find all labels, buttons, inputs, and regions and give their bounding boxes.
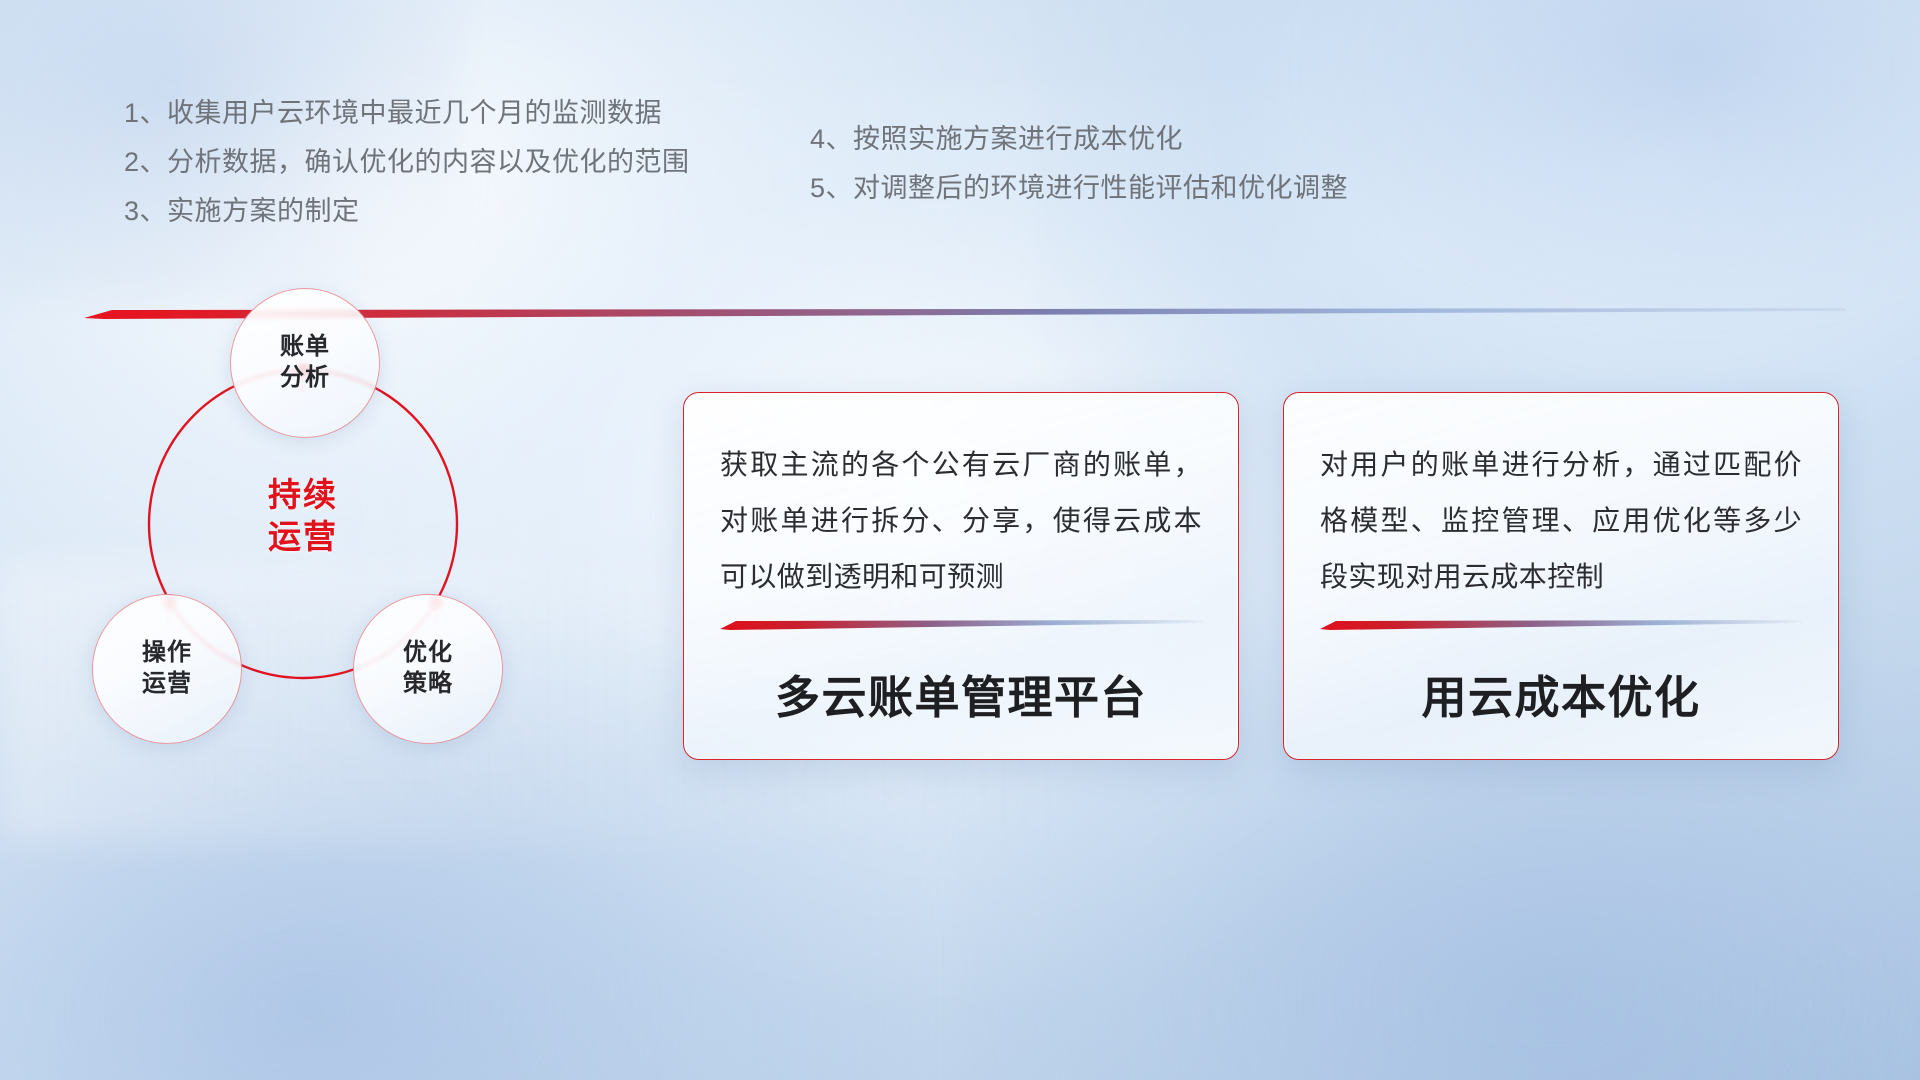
card-title: 用云成本优化 [1320, 673, 1802, 723]
background-tint-top-right [1306, 0, 1920, 324]
node-label-line2: 运营 [142, 669, 192, 700]
diagram-node-billing-analysis[interactable]: 账单 分析 [230, 288, 380, 438]
step-item-1: 1、收集用户云环境中最近几个月的监测数据 [124, 100, 690, 127]
node-label-line1: 操作 [142, 638, 192, 669]
steps-right-column: 4、按照实施方案进行成本优化 5、对调整后的环境进行性能评估和优化调整 [810, 126, 1348, 202]
card-divider [1320, 619, 1802, 631]
node-label-line2: 策略 [403, 669, 453, 700]
diagram-node-optimization-strategy[interactable]: 优化 策略 [353, 594, 503, 744]
card-divider [720, 619, 1202, 631]
card-multi-cloud-billing-platform[interactable]: 获取主流的各个公有云厂商的账单，对账单进行拆分、分享，使得云成本可以做到透明和可… [683, 392, 1239, 760]
node-label-line1: 优化 [403, 638, 453, 669]
card-cloud-cost-optimization[interactable]: 对用户的账单进行分析，通过匹配价格模型、监控管理、应用优化等多少段实现对用云成本… [1283, 392, 1839, 760]
card-body-text: 获取主流的各个公有云厂商的账单，对账单进行拆分、分享，使得云成本可以做到透明和可… [720, 437, 1202, 615]
step-item-3: 3、实施方案的制定 [124, 198, 690, 225]
center-label-line1: 持续 [208, 474, 398, 516]
center-label-line2: 运营 [208, 516, 398, 558]
diagram-node-operations[interactable]: 操作 运营 [92, 594, 242, 744]
node-label-line2: 分析 [280, 363, 330, 394]
card-body-text: 对用户的账单进行分析，通过匹配价格模型、监控管理、应用优化等多少段实现对用云成本… [1320, 437, 1802, 615]
steps-left-column: 1、收集用户云环境中最近几个月的监测数据 2、分析数据，确认优化的内容以及优化的… [124, 100, 690, 225]
card-title: 多云账单管理平台 [720, 673, 1202, 723]
diagram-center-label: 持续 运营 [208, 474, 398, 557]
slide-canvas: 1、收集用户云环境中最近几个月的监测数据 2、分析数据，确认优化的内容以及优化的… [0, 0, 1920, 1080]
node-label-line1: 账单 [280, 332, 330, 363]
step-item-4: 4、按照实施方案进行成本优化 [810, 126, 1348, 153]
step-item-2: 2、分析数据，确认优化的内容以及优化的范围 [124, 149, 690, 176]
step-item-5: 5、对调整后的环境进行性能评估和优化调整 [810, 175, 1348, 202]
continuous-operations-diagram: 账单 分析 操作 运营 优化 策略 持续 运营 [88, 284, 558, 784]
